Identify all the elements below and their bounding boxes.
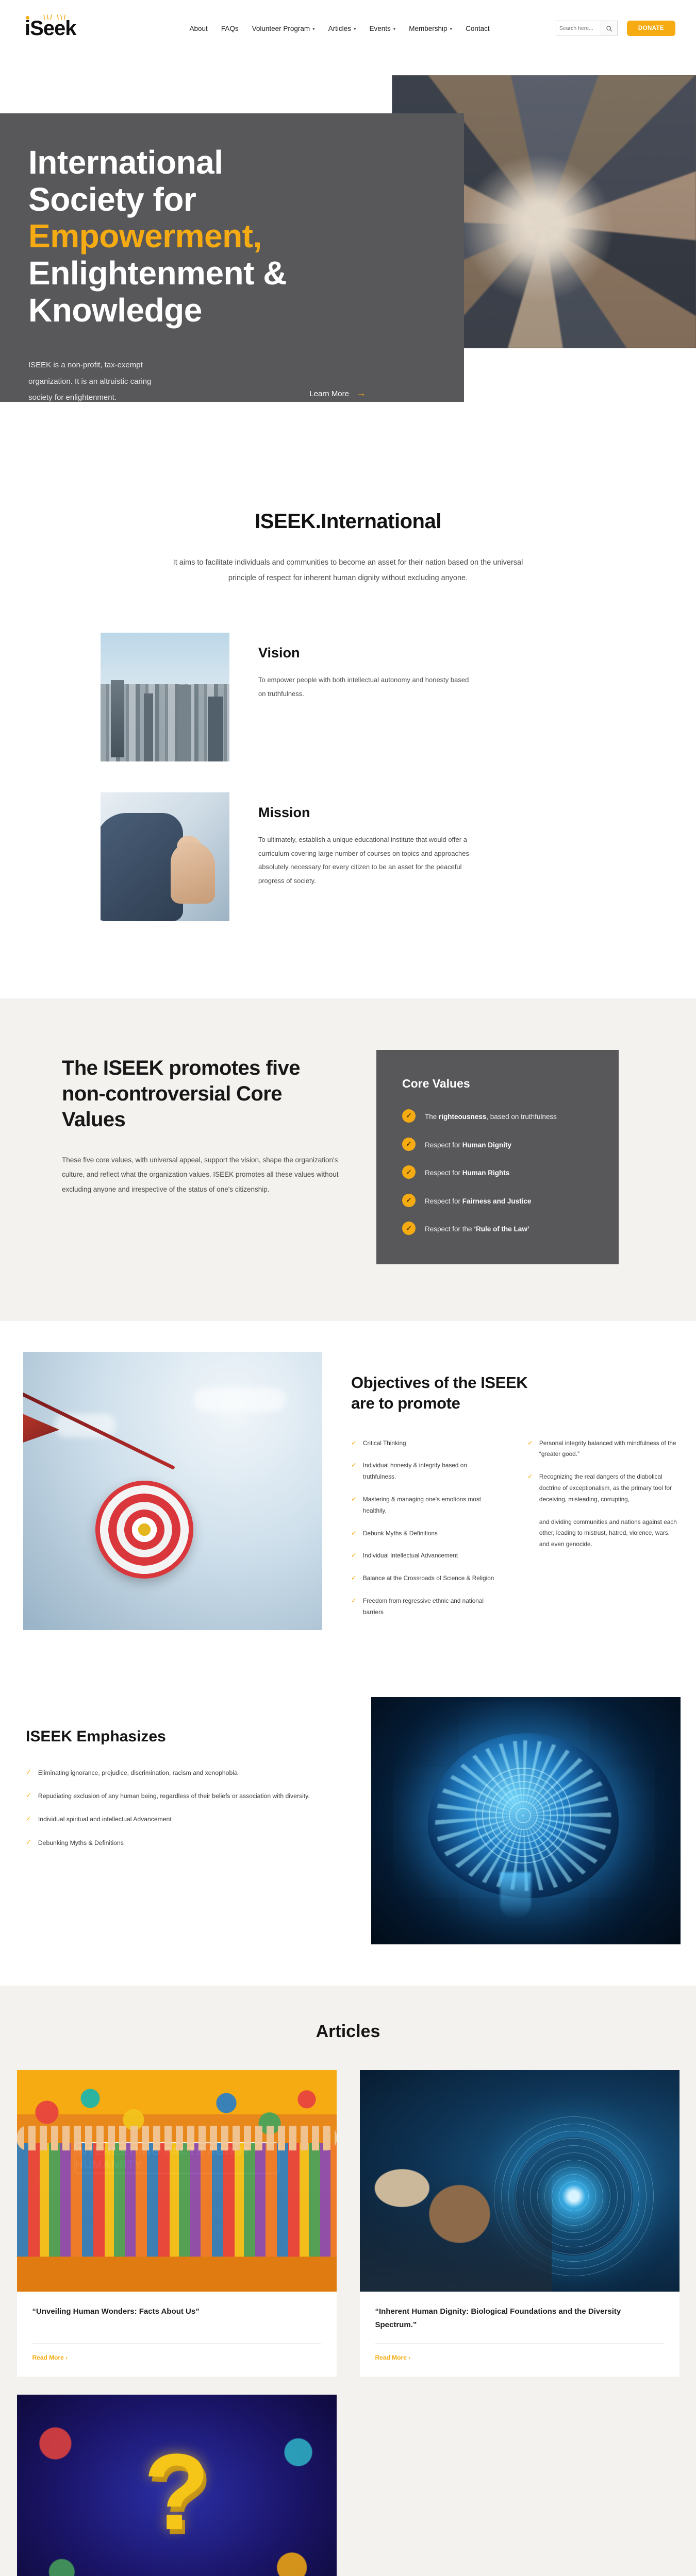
read-more-link[interactable]: Read More › [32, 2354, 321, 2361]
chevron-down-icon: ▾ [312, 26, 315, 32]
check-icon: ✓ [26, 1767, 31, 1778]
nav-label: Contact [466, 25, 490, 32]
objective-item: ✓Balance at the Crossroads of Science & … [351, 1573, 502, 1584]
search-icon[interactable] [601, 21, 617, 36]
check-icon: ✓ [351, 1528, 357, 1539]
hero-bottom: ISEEK is a non-profit, tax-exempt organi… [28, 357, 428, 406]
core-values-heading: The ISEEK promotes five non-controversia… [62, 1055, 340, 1132]
nav-label: Articles [328, 25, 351, 32]
nav-item-contact[interactable]: Contact [466, 25, 490, 32]
core-values-intro: The ISEEK promotes five non-controversia… [62, 1050, 340, 1197]
nav-label: Membership [409, 25, 447, 32]
site-logo[interactable]: \\/ \\/ iSeek [25, 18, 76, 39]
glowing-brain-photo [371, 1697, 681, 1944]
search-box[interactable] [556, 21, 618, 36]
check-icon: ✓ [351, 1494, 357, 1505]
objective-text: Debunk Myths & Definitions [363, 1528, 438, 1539]
intro-paragraph: It aims to facilitate individuals and co… [162, 555, 534, 586]
nav-item-events[interactable]: Events ▾ [369, 25, 395, 32]
objective-text: Individual honesty & integrity based on … [363, 1460, 502, 1483]
core-values-paragraph: These five core values, with universal a… [62, 1153, 340, 1197]
hero-subtitle: ISEEK is a non-profit, tax-exempt organi… [28, 357, 152, 406]
check-circle-icon: ✓ [402, 1138, 416, 1151]
core-value-item: ✓ The righteousness, based on truthfulne… [402, 1109, 593, 1123]
objective-item: ✓and dividing communities and nations ag… [527, 1517, 678, 1550]
logo-rays-icon: \\/ \\/ [43, 14, 67, 21]
page-root: \\/ \\/ iSeek About FAQs Volunteer Progr… [0, 0, 696, 2576]
main-nav: About FAQs Volunteer Program ▾ Articles … [190, 25, 556, 32]
core-value-pre: Respect for [425, 1141, 462, 1149]
objective-text: Mastering & managing one's emotions most… [363, 1494, 502, 1517]
objective-item: ✓Freedom from regressive ethnic and nati… [351, 1596, 502, 1618]
nav-item-volunteer-program[interactable]: Volunteer Program ▾ [252, 25, 315, 32]
emphasize-text: Individual spiritual and intellectual Ad… [38, 1814, 172, 1825]
intro-heading: ISEEK.International [0, 510, 696, 533]
article-card[interactable]: INTERESTIING FACTS ABOUT HUMANIITY “Unve… [17, 2070, 337, 2377]
core-value-text: The righteousness, based on truthfulness [425, 1109, 557, 1123]
objective-item: ✓Recognizing the real dangers of the dia… [527, 1471, 678, 1505]
nav-label: Events [369, 25, 390, 32]
core-values-card-title: Core Values [402, 1077, 593, 1091]
check-icon: ✓ [351, 1596, 357, 1606]
mission-title: Mission [258, 805, 475, 821]
check-circle-icon: ✓ [402, 1194, 416, 1207]
check-icon: ✓ [351, 1573, 357, 1584]
hero-panel: International Society for Empowerment, E… [0, 113, 464, 402]
core-value-post: , based on truthfulness [486, 1113, 557, 1121]
learn-more-link[interactable]: Learn More → [309, 388, 366, 399]
core-value-pre: Respect for [425, 1169, 462, 1177]
mission-row: Mission To ultimately, establish a uniqu… [85, 792, 611, 921]
emphasize-item: ✓Individual spiritual and intellectual A… [26, 1814, 345, 1825]
hero-title-accent: Empowerment, [28, 218, 428, 255]
question-mark-icon: ? [143, 2438, 209, 2546]
chevron-right-icon: › [408, 2355, 410, 2361]
people-row-illustration [17, 2143, 337, 2257]
emphasize-item: ✓Eliminating ignorance, prejudice, discr… [26, 1767, 345, 1779]
check-icon: ✓ [351, 1438, 357, 1449]
check-icon: ✓ [26, 1790, 31, 1801]
hero-title-line-2: Society for [28, 181, 428, 218]
emphasizes-content: ISEEK Emphasizes ✓Eliminating ignorance,… [26, 1697, 345, 1944]
target-icon [95, 1481, 193, 1579]
vision-title: Vision [258, 645, 475, 661]
core-value-item: ✓ Respect for the ‘Rule of the Law’ [402, 1222, 593, 1235]
archery-target-photo [23, 1352, 322, 1630]
check-circle-icon: ✓ [402, 1109, 416, 1123]
objective-text: and dividing communities and nations aga… [539, 1517, 678, 1550]
vision-body: To empower people with both intellectual… [258, 673, 475, 701]
emphasize-item: ✓Debunking Myths & Definitions [26, 1837, 345, 1849]
articles-heading: Articles [0, 2022, 696, 2042]
core-value-bold: Human Dignity [462, 1141, 511, 1149]
trivia-question-mark-thumb: ? QUESTIONS [17, 2395, 337, 2576]
objective-item: ✓Individual Intellectual Advancement [351, 1550, 502, 1562]
logo-dot-icon [26, 16, 29, 20]
search-input[interactable] [556, 25, 601, 31]
objective-text: Critical Thinking [363, 1438, 406, 1449]
arrow-right-icon: → [356, 388, 366, 399]
objectives-section: Objectives of the ISEEK are to promote ✓… [0, 1321, 696, 1666]
core-values-card: Core Values ✓ The righteousness, based o… [376, 1050, 619, 1264]
hand-touching-screen-photo [101, 792, 229, 921]
header-actions: DONATE [556, 21, 675, 36]
nav-item-about[interactable]: About [190, 25, 208, 32]
article-title: “Inherent Human Dignity: Biological Foun… [375, 2305, 664, 2332]
core-value-pre: Respect for [425, 1197, 462, 1205]
core-value-pre: The [425, 1113, 439, 1121]
read-more-label: Read More [375, 2354, 407, 2361]
core-value-bold: Human Rights [462, 1169, 510, 1177]
core-value-bold: ‘Rule of the Law’ [474, 1225, 529, 1233]
objective-item: ✓Critical Thinking [351, 1438, 502, 1449]
objective-text: Balance at the Crossroads of Science & R… [363, 1573, 494, 1584]
objectives-left-column: ✓Critical Thinking ✓Individual honesty &… [351, 1438, 502, 1630]
nav-label: About [190, 25, 208, 32]
mission-body: To ultimately, establish a unique educat… [258, 833, 475, 888]
vision-mission-section: Vision To empower people with both intel… [0, 622, 696, 998]
objective-item: ✓Mastering & managing one's emotions mos… [351, 1494, 502, 1517]
chevron-down-icon: ▾ [354, 26, 356, 32]
check-circle-icon: ✓ [402, 1165, 416, 1179]
core-value-text: Respect for Fairness and Justice [425, 1194, 531, 1208]
objective-text: Freedom from regressive ethnic and natio… [363, 1596, 502, 1618]
check-icon: ✓ [26, 1814, 31, 1824]
check-icon: ✓ [26, 1837, 31, 1848]
objectives-heading: Objectives of the ISEEK are to promote [351, 1372, 678, 1414]
hero-title-line-4: Knowledge [28, 292, 428, 329]
nav-item-membership[interactable]: Membership ▾ [409, 25, 452, 32]
vision-text: Vision To empower people with both intel… [258, 633, 475, 701]
hero-title: International Society for Empowerment, E… [28, 144, 428, 329]
objectives-heading-line-2: are to promote [351, 1394, 460, 1412]
hero-white-block [217, 402, 464, 474]
chevron-down-icon: ▾ [393, 26, 396, 32]
objectives-right-column: ✓Personal integrity balanced with mindfu… [527, 1438, 678, 1630]
emphasizes-section: ISEEK Emphasizes ✓Eliminating ignorance,… [0, 1666, 696, 1986]
core-value-text: Respect for Human Dignity [425, 1138, 511, 1151]
article-title: “Unveiling Human Wonders: Facts About Us… [32, 2305, 321, 2332]
article-card[interactable]: “Inherent Human Dignity: Biological Foun… [360, 2070, 680, 2377]
emphasizes-heading: ISEEK Emphasizes [26, 1728, 345, 1745]
divider [32, 2343, 321, 2344]
core-value-pre: Respect for the [425, 1225, 474, 1233]
emphasize-text: Eliminating ignorance, prejudice, discri… [38, 1767, 238, 1779]
articles-grid: INTERESTIING FACTS ABOUT HUMANIITY “Unve… [0, 2070, 696, 2576]
objective-text: Recognizing the real dangers of the diab… [539, 1471, 678, 1505]
mission-text: Mission To ultimately, establish a uniqu… [258, 792, 475, 888]
core-value-item: ✓ Respect for Fairness and Justice [402, 1194, 593, 1208]
vision-row: Vision To empower people with both intel… [85, 633, 611, 761]
read-more-label: Read More [32, 2354, 64, 2361]
core-values-section: The ISEEK promotes five non-controversia… [0, 998, 696, 1321]
city-skyline-photo [101, 633, 229, 761]
check-icon: ✓ [351, 1460, 357, 1471]
emphasize-item: ✓Repudiating exclusion of any human bein… [26, 1790, 345, 1802]
core-value-item: ✓ Respect for Human Dignity [402, 1138, 593, 1151]
emphasize-text: Repudiating exclusion of any human being… [38, 1790, 310, 1802]
check-icon: ✓ [527, 1471, 533, 1482]
nav-label: FAQs [221, 25, 239, 32]
nav-item-articles[interactable]: Articles ▾ [328, 25, 356, 32]
intro-section: ISEEK.International It aims to facilitat… [0, 464, 696, 622]
objectives-content: Objectives of the ISEEK are to promote ✓… [351, 1352, 678, 1630]
core-value-bold: righteousness [439, 1113, 486, 1121]
objective-text: Personal integrity balanced with mindful… [539, 1438, 678, 1461]
objectives-heading-line-1: Objectives of the ISEEK [351, 1374, 527, 1392]
hero-title-line-3: Enlightenment & [28, 255, 428, 292]
read-more-link[interactable]: Read More › [375, 2354, 664, 2361]
humanity-infographic-thumb: INTERESTIING FACTS ABOUT HUMANIITY [17, 2070, 337, 2292]
objective-item: ✓Debunk Myths & Definitions [351, 1528, 502, 1539]
divider [375, 2343, 664, 2344]
chevron-right-icon: › [65, 2355, 68, 2361]
objective-item: ✓Individual honesty & integrity based on… [351, 1460, 502, 1483]
core-value-text: Respect for the ‘Rule of the Law’ [425, 1222, 529, 1235]
check-circle-icon: ✓ [402, 1222, 416, 1235]
article-card[interactable]: ? QUESTIONS Trivia Unleashed: Intriguing… [17, 2395, 337, 2576]
nav-item-faqs[interactable]: FAQs [221, 25, 239, 32]
objective-text: Individual Intellectual Advancement [363, 1550, 458, 1562]
check-icon: ✓ [527, 1438, 533, 1449]
hero-title-line-1: International [28, 144, 428, 181]
hero-section: International Society for Empowerment, E… [0, 57, 696, 464]
emphasize-text: Debunking Myths & Definitions [38, 1837, 124, 1849]
site-header: \\/ \\/ iSeek About FAQs Volunteer Progr… [0, 0, 696, 57]
learn-more-label: Learn More [309, 389, 349, 398]
objective-item: ✓Personal integrity balanced with mindfu… [527, 1438, 678, 1461]
chevron-down-icon: ▾ [450, 26, 453, 32]
core-value-text: Respect for Human Rights [425, 1165, 509, 1179]
donate-button[interactable]: DONATE [627, 21, 675, 36]
brain-stem-shape [500, 1872, 531, 1919]
core-value-item: ✓ Respect for Human Rights [402, 1165, 593, 1179]
people-illustration [360, 2119, 552, 2292]
check-icon: ✓ [351, 1550, 357, 1561]
core-value-bold: Fairness and Justice [462, 1197, 532, 1205]
cloud-shape [193, 1388, 286, 1412]
articles-section: Articles INTERESTIING FACTS ABOUT HUMANI… [0, 1986, 696, 2576]
human-dignity-thumb [360, 2070, 680, 2292]
nav-label: Volunteer Program [252, 25, 310, 32]
